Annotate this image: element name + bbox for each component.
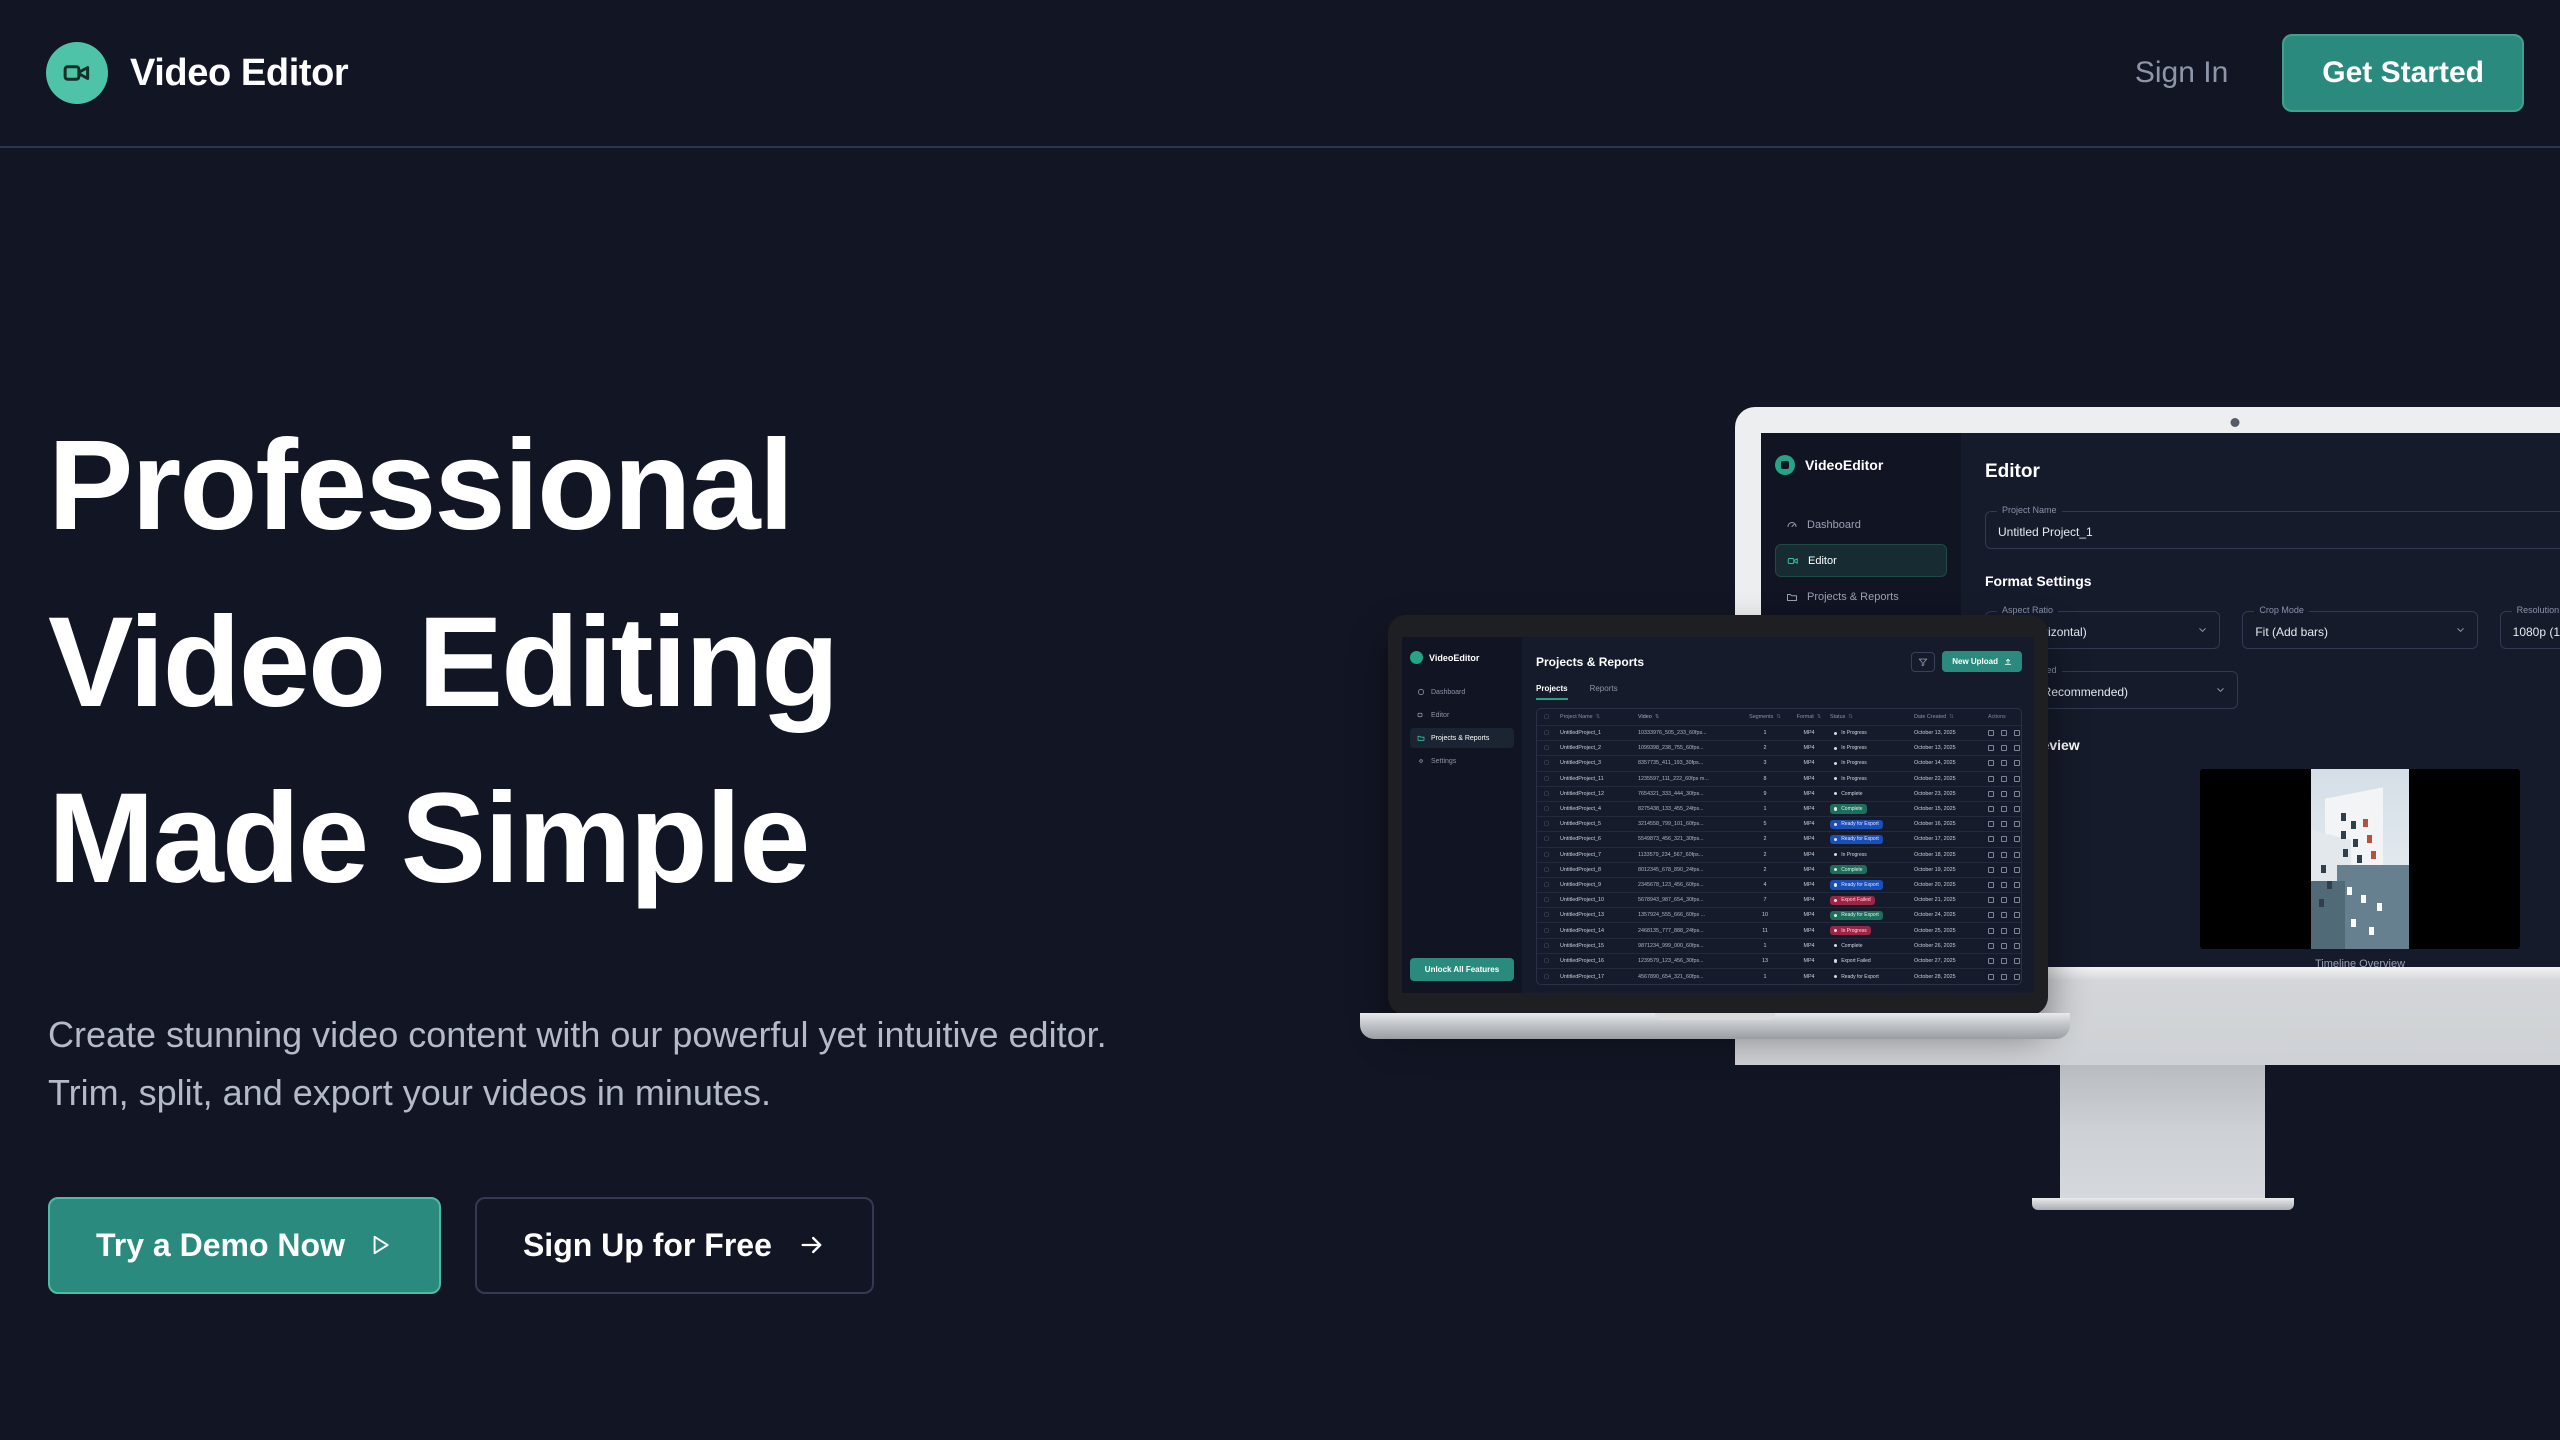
cell-status: In Progress bbox=[1830, 729, 1914, 738]
get-started-button[interactable]: Get Started bbox=[2282, 34, 2524, 112]
download-icon[interactable] bbox=[2001, 928, 2007, 934]
column-status[interactable]: Status⇅ bbox=[1830, 714, 1914, 720]
status-badge: Ready for Export bbox=[1830, 880, 1883, 889]
cell-format: MP4 bbox=[1788, 974, 1830, 980]
folder-icon bbox=[1417, 734, 1425, 742]
edit-icon[interactable] bbox=[1988, 745, 1994, 751]
sidebar-label-projects: Projects & Reports bbox=[1807, 591, 1899, 603]
hero-title-line-3: Made Simple bbox=[48, 751, 1200, 928]
delete-icon[interactable] bbox=[2014, 867, 2020, 873]
row-checkbox[interactable]: ▢ bbox=[1544, 882, 1560, 888]
product-mockups: VideoEditor Dashboard Editor bbox=[1360, 380, 2560, 1240]
cell-segments: 1 bbox=[1742, 806, 1788, 812]
cell-format: MP4 bbox=[1788, 912, 1830, 918]
app-logo: VideoEditor bbox=[1775, 455, 1947, 475]
cell-actions bbox=[1988, 821, 2020, 827]
cell-date-created: October 18, 2025 bbox=[1914, 852, 1988, 858]
table-row[interactable]: ▢UntitledProject_88012345_678_890_24fps.… bbox=[1537, 863, 2021, 878]
cell-status: Export Failed bbox=[1830, 956, 1914, 965]
cell-project-name: UntitledProject_8 bbox=[1560, 867, 1638, 873]
cell-date-created: October 14, 2025 bbox=[1914, 760, 1988, 766]
cell-status: Export Failed bbox=[1830, 896, 1914, 905]
cell-video: 8012345_678_890_24fps... bbox=[1638, 867, 1742, 873]
delete-icon[interactable] bbox=[2014, 882, 2020, 888]
crop-mode-select[interactable]: Crop Mode Fit (Add bars) bbox=[2242, 611, 2477, 649]
table-row[interactable]: ▢UntitledProject_110333976_505_233_60fps… bbox=[1537, 726, 2021, 741]
delete-icon[interactable] bbox=[2014, 836, 2020, 842]
filter-icon[interactable] bbox=[1911, 652, 1935, 672]
laptop-base-notch bbox=[1655, 1013, 1775, 1020]
crop-mode-label: Crop Mode bbox=[2254, 605, 2309, 615]
table-row[interactable]: ▢UntitledProject_131357924_555_666_60fps… bbox=[1537, 908, 2021, 923]
cell-project-name: UntitledProject_2 bbox=[1560, 745, 1638, 751]
hero-cta-group: Try a Demo Now Sign Up for Free bbox=[48, 1197, 1200, 1294]
sidebar-label-projects: Projects & Reports bbox=[1431, 735, 1489, 742]
tab-projects[interactable]: Projects bbox=[1536, 684, 1568, 700]
video-camera-icon bbox=[1786, 554, 1799, 567]
dashboard-icon bbox=[1785, 518, 1798, 531]
app-logo-label: VideoEditor bbox=[1805, 457, 1883, 473]
edit-icon[interactable] bbox=[1988, 897, 1994, 903]
cell-project-name: UntitledProject_16 bbox=[1560, 958, 1638, 964]
video-camera-icon bbox=[1417, 711, 1425, 719]
table-row[interactable]: ▢UntitledProject_111235597_111_222_60fps… bbox=[1537, 772, 2021, 787]
status-badge: In Progress bbox=[1830, 774, 1871, 783]
delete-icon[interactable] bbox=[2014, 852, 2020, 858]
video-frame-image bbox=[2311, 769, 2409, 949]
cell-project-name: UntitledProject_1 bbox=[1560, 730, 1638, 736]
row-checkbox[interactable]: ▢ bbox=[1544, 791, 1560, 797]
row-checkbox[interactable]: ▢ bbox=[1544, 745, 1560, 751]
column-format[interactable]: Format⇅ bbox=[1788, 714, 1830, 720]
edit-icon[interactable] bbox=[1988, 943, 1994, 949]
edit-icon[interactable] bbox=[1988, 867, 1994, 873]
delete-icon[interactable] bbox=[2014, 974, 2020, 980]
status-badge: Export Failed bbox=[1830, 896, 1875, 905]
sign-in-button[interactable]: Sign In bbox=[2135, 56, 2228, 90]
editor-header: Editor Save Exp bbox=[1985, 455, 2560, 489]
cell-video: 1239579_123_456_30fps... bbox=[1638, 958, 1742, 964]
sidebar-label-dashboard: Dashboard bbox=[1807, 519, 1861, 531]
resolution-label: Resolution bbox=[2512, 605, 2560, 615]
sidebar-label-settings: Settings bbox=[1431, 758, 1456, 765]
cell-segments: 4 bbox=[1742, 882, 1788, 888]
download-icon[interactable] bbox=[2001, 958, 2007, 964]
column-actions: Actions bbox=[1988, 714, 2014, 720]
edit-icon[interactable] bbox=[1988, 806, 1994, 812]
download-icon[interactable] bbox=[2001, 943, 2007, 949]
gear-icon bbox=[1417, 757, 1425, 765]
play-icon bbox=[367, 1232, 393, 1258]
arrow-right-icon bbox=[798, 1231, 826, 1259]
cell-video: 2345678_123_456_60fps... bbox=[1638, 882, 1742, 888]
row-checkbox[interactable]: ▢ bbox=[1544, 912, 1560, 918]
cell-format: MP4 bbox=[1788, 745, 1830, 751]
cell-project-name: UntitledProject_17 bbox=[1560, 974, 1638, 980]
cell-video: 3214558_799_101_60fps... bbox=[1638, 821, 1742, 827]
delete-icon[interactable] bbox=[2014, 776, 2020, 782]
cell-actions bbox=[1988, 791, 2020, 797]
cell-actions bbox=[1988, 745, 2020, 751]
column-video[interactable]: Video⇅ bbox=[1638, 714, 1742, 720]
cell-status: Ready for Export bbox=[1830, 820, 1914, 829]
cell-date-created: October 17, 2025 bbox=[1914, 836, 1988, 842]
header-actions: Sign In Get Started bbox=[2135, 34, 2524, 112]
row-checkbox[interactable]: ▢ bbox=[1544, 943, 1560, 949]
download-icon[interactable] bbox=[2001, 776, 2007, 782]
edit-icon[interactable] bbox=[1988, 791, 1994, 797]
app-logo-icon bbox=[1410, 651, 1423, 664]
hero-title-line-2: Video Editing bbox=[48, 575, 1200, 752]
cell-format: MP4 bbox=[1788, 821, 1830, 827]
cell-status: In Progress bbox=[1830, 759, 1914, 768]
download-icon[interactable] bbox=[2001, 974, 2007, 980]
sidebar-item-editor[interactable]: Editor bbox=[1775, 544, 1947, 577]
cell-status: In Progress bbox=[1830, 744, 1914, 753]
cell-format: MP4 bbox=[1788, 943, 1830, 949]
cell-actions bbox=[1988, 943, 2020, 949]
download-icon[interactable] bbox=[2001, 852, 2007, 858]
cell-actions bbox=[1988, 912, 2020, 918]
cell-date-created: October 22, 2025 bbox=[1914, 776, 1988, 782]
hero-section: Professional Video Editing Made Simple C… bbox=[0, 148, 1200, 1294]
download-icon[interactable] bbox=[2001, 821, 2007, 827]
sidebar-label-dashboard: Dashboard bbox=[1431, 689, 1465, 696]
row-checkbox[interactable]: ▢ bbox=[1544, 730, 1560, 736]
editor-page-title: Editor bbox=[1985, 461, 2040, 483]
project-name-label: Project Name bbox=[1997, 505, 2062, 515]
cell-status: Ready for Export bbox=[1830, 972, 1914, 981]
video-camera-icon bbox=[46, 42, 108, 104]
sidebar-label-editor: Editor bbox=[1431, 712, 1449, 719]
projects-tabs: Projects Reports bbox=[1536, 684, 2022, 700]
status-badge: Ready for Export bbox=[1830, 911, 1883, 920]
projects-actions: New Upload bbox=[1911, 651, 2022, 672]
cell-actions bbox=[1988, 730, 2020, 736]
delete-icon[interactable] bbox=[2014, 760, 2020, 766]
download-icon[interactable] bbox=[2001, 867, 2007, 873]
cell-actions bbox=[1988, 760, 2020, 766]
download-icon[interactable] bbox=[2001, 836, 2007, 842]
site-header: Video Editor Sign In Get Started bbox=[0, 0, 2560, 148]
cell-segments: 2 bbox=[1742, 852, 1788, 858]
status-badge: Complete bbox=[1830, 865, 1867, 874]
row-checkbox[interactable]: ▢ bbox=[1544, 928, 1560, 934]
cell-status: Complete bbox=[1830, 865, 1914, 874]
cell-video: 5678943_987_654_30fps... bbox=[1638, 897, 1742, 903]
cell-format: MP4 bbox=[1788, 836, 1830, 842]
app-logo: VideoEditor bbox=[1410, 651, 1514, 664]
sidebar-item-dashboard[interactable]: Dashboard bbox=[1410, 682, 1514, 702]
app-logo-icon bbox=[1775, 455, 1795, 475]
new-upload-label: New Upload bbox=[1952, 657, 1998, 666]
cell-status: Ready for Export bbox=[1830, 911, 1914, 920]
sign-up-label: Sign Up for Free bbox=[523, 1227, 772, 1264]
status-badge: In Progress bbox=[1830, 926, 1871, 935]
download-icon[interactable] bbox=[2001, 806, 2007, 812]
projects-header: Projects & Reports New Upload bbox=[1536, 651, 2022, 672]
table-row[interactable]: ▢UntitledProject_21099398_238_755_60fps.… bbox=[1537, 741, 2021, 756]
cell-video: 9871234_999_000_60fps... bbox=[1638, 943, 1742, 949]
row-checkbox[interactable]: ▢ bbox=[1544, 974, 1560, 980]
cell-project-name: UntitledProject_12 bbox=[1560, 791, 1638, 797]
status-badge: Complete bbox=[1830, 804, 1867, 813]
monitor-foot bbox=[2032, 1198, 2294, 1210]
row-checkbox[interactable]: ▢ bbox=[1544, 867, 1560, 873]
try-demo-button[interactable]: Try a Demo Now bbox=[48, 1197, 441, 1294]
edit-icon[interactable] bbox=[1988, 730, 1994, 736]
status-badge: Complete bbox=[1830, 941, 1867, 950]
monitor-stand bbox=[2060, 1065, 2265, 1205]
projects-main: Projects & Reports New Upload bbox=[1522, 637, 2034, 993]
cell-actions bbox=[1988, 852, 2020, 858]
edit-icon[interactable] bbox=[1988, 821, 1994, 827]
edit-icon[interactable] bbox=[1988, 882, 1994, 888]
delete-icon[interactable] bbox=[2014, 730, 2020, 736]
table-row[interactable]: ▢UntitledProject_65549873_456_321_30fps.… bbox=[1537, 832, 2021, 847]
cell-date-created: October 13, 2025 bbox=[1914, 745, 1988, 751]
chevron-down-icon bbox=[2455, 625, 2466, 636]
status-badge: In Progress bbox=[1830, 744, 1871, 753]
cell-segments: 2 bbox=[1742, 836, 1788, 842]
cell-format: MP4 bbox=[1788, 928, 1830, 934]
chevron-down-icon bbox=[2215, 685, 2226, 696]
project-name-value: Untitled Project_1 bbox=[1998, 525, 2560, 539]
edit-icon[interactable] bbox=[1988, 836, 1994, 842]
delete-icon[interactable] bbox=[2014, 806, 2020, 812]
edit-icon[interactable] bbox=[1988, 912, 1994, 918]
sidebar-item-dashboard[interactable]: Dashboard bbox=[1775, 509, 1947, 540]
cell-format: MP4 bbox=[1788, 867, 1830, 873]
video-preview-header: Video Preview Video player size bbox=[1985, 737, 2560, 753]
cell-video: 10333976_505_233_60fps... bbox=[1638, 730, 1742, 736]
edit-icon[interactable] bbox=[1988, 852, 1994, 858]
table-row[interactable]: ▢UntitledProject_142468135_777_888_24fps… bbox=[1537, 923, 2021, 938]
cell-format: MP4 bbox=[1788, 852, 1830, 858]
table-row[interactable]: ▢UntitledProject_161239579_123_456_30fps… bbox=[1537, 954, 2021, 969]
cell-format: MP4 bbox=[1788, 760, 1830, 766]
cell-actions bbox=[1988, 928, 2020, 934]
row-checkbox[interactable]: ▢ bbox=[1544, 897, 1560, 903]
download-icon[interactable] bbox=[2001, 745, 2007, 751]
cell-segments: 1 bbox=[1742, 974, 1788, 980]
folder-icon bbox=[1785, 590, 1798, 603]
delete-icon[interactable] bbox=[2014, 943, 2020, 949]
edit-icon[interactable] bbox=[1988, 974, 1994, 980]
status-badge: Ready for Export bbox=[1830, 820, 1883, 829]
delete-icon[interactable] bbox=[2014, 897, 2020, 903]
cell-date-created: October 25, 2025 bbox=[1914, 928, 1988, 934]
table-row[interactable]: ▢UntitledProject_53214558_799_101_60fps.… bbox=[1537, 817, 2021, 832]
laptop-sidebar: VideoEditor Dashboard Edit bbox=[1402, 637, 1522, 993]
table-header-row: ▢ Project Name⇅ Video⇅ Segments⇅ Format⇅ bbox=[1537, 709, 2021, 726]
cell-video: 5549873_456_321_30fps... bbox=[1638, 836, 1742, 842]
sidebar-item-projects-reports[interactable]: Projects & Reports bbox=[1410, 728, 1514, 748]
cell-video: 8357735_411_193_30fps... bbox=[1638, 760, 1742, 766]
page-title: Professional Video Editing Made Simple bbox=[48, 398, 1200, 928]
unlock-all-features-button[interactable]: Unlock All Features bbox=[1410, 958, 1514, 981]
cell-actions bbox=[1988, 958, 2020, 964]
row-checkbox[interactable]: ▢ bbox=[1544, 958, 1560, 964]
landing-page: Video Editor Sign In Get Started Profess… bbox=[0, 0, 2560, 1440]
format-field-row-1: Aspect Ratio 16:9 (Horizontal) Crop Mode… bbox=[1985, 589, 2560, 649]
cell-format: MP4 bbox=[1788, 882, 1830, 888]
delete-icon[interactable] bbox=[2014, 912, 2020, 918]
table-row[interactable]: ▢UntitledProject_48275438_133_455_24fps.… bbox=[1537, 802, 2021, 817]
cell-project-name: UntitledProject_7 bbox=[1560, 852, 1638, 858]
row-checkbox[interactable]: ▢ bbox=[1544, 776, 1560, 782]
cell-date-created: October 23, 2025 bbox=[1914, 791, 1988, 797]
download-icon[interactable] bbox=[2001, 760, 2007, 766]
cell-date-created: October 20, 2025 bbox=[1914, 882, 1988, 888]
download-icon[interactable] bbox=[2001, 882, 2007, 888]
cell-date-created: October 19, 2025 bbox=[1914, 867, 1988, 873]
delete-icon[interactable] bbox=[2014, 791, 2020, 797]
column-segments[interactable]: Segments⇅ bbox=[1742, 714, 1788, 720]
cell-status: In Progress bbox=[1830, 926, 1914, 935]
table-row[interactable]: ▢UntitledProject_105678943_987_654_30fps… bbox=[1537, 893, 2021, 908]
cell-actions bbox=[1988, 897, 2020, 903]
resolution-value: 1080p (1920x1080) bbox=[2513, 625, 2560, 639]
cell-segments: 8 bbox=[1742, 776, 1788, 782]
column-project-name[interactable]: Project Name⇅ bbox=[1560, 714, 1638, 720]
row-checkbox[interactable]: ▢ bbox=[1544, 806, 1560, 812]
edit-icon[interactable] bbox=[1988, 958, 1994, 964]
cell-video: 7654321_333_444_30fps... bbox=[1638, 791, 1742, 797]
tab-reports[interactable]: Reports bbox=[1590, 684, 1618, 700]
laptop-lid: VideoEditor Dashboard Edit bbox=[1388, 615, 2048, 1015]
delete-icon[interactable] bbox=[2014, 745, 2020, 751]
sign-up-free-button[interactable]: Sign Up for Free bbox=[475, 1197, 874, 1294]
timeline-overview-caption: Timeline Overview bbox=[1985, 958, 2560, 967]
laptop-mockup: VideoEditor Dashboard Edit bbox=[1360, 615, 2070, 1047]
cell-actions bbox=[1988, 882, 2020, 888]
cell-video: 1357924_555_666_60fps ... bbox=[1638, 912, 1742, 918]
cell-project-name: UntitledProject_13 bbox=[1560, 912, 1638, 918]
cell-status: Complete bbox=[1830, 804, 1914, 813]
table-body: ▢UntitledProject_110333976_505_233_60fps… bbox=[1537, 726, 2021, 984]
cell-format: MP4 bbox=[1788, 806, 1830, 812]
cell-project-name: UntitledProject_5 bbox=[1560, 821, 1638, 827]
project-name-field[interactable]: Project Name Untitled Project_1 bbox=[1985, 511, 2560, 549]
cell-date-created: October 27, 2025 bbox=[1914, 958, 1988, 964]
crop-mode-value: Fit (Add bars) bbox=[2255, 625, 2464, 639]
cell-segments: 9 bbox=[1742, 791, 1788, 797]
delete-icon[interactable] bbox=[2014, 928, 2020, 934]
table-row[interactable]: ▢UntitledProject_92345678_123_456_60fps.… bbox=[1537, 878, 2021, 893]
row-checkbox[interactable]: ▢ bbox=[1544, 836, 1560, 842]
cell-status: Complete bbox=[1830, 789, 1914, 798]
download-icon[interactable] bbox=[2001, 897, 2007, 903]
cell-segments: 2 bbox=[1742, 867, 1788, 873]
table-row[interactable]: ▢UntitledProject_127654321_333_444_30fps… bbox=[1537, 787, 2021, 802]
cell-date-created: October 16, 2025 bbox=[1914, 821, 1988, 827]
edit-icon[interactable] bbox=[1988, 760, 1994, 766]
download-icon[interactable] bbox=[2001, 791, 2007, 797]
cell-status: Ready for Export bbox=[1830, 880, 1914, 889]
row-checkbox[interactable]: ▢ bbox=[1544, 852, 1560, 858]
cell-date-created: October 28, 2025 bbox=[1914, 974, 1988, 980]
table-row[interactable]: ▢UntitledProject_174567890_654_321_60fps… bbox=[1537, 969, 2021, 984]
cell-project-name: UntitledProject_10 bbox=[1560, 897, 1638, 903]
cell-status: Ready for Export bbox=[1830, 835, 1914, 844]
video-preview-player[interactable] bbox=[2200, 769, 2520, 949]
row-checkbox[interactable]: ▢ bbox=[1544, 760, 1560, 766]
delete-icon[interactable] bbox=[2014, 821, 2020, 827]
status-badge: Ready for Export bbox=[1830, 972, 1883, 981]
cell-date-created: October 15, 2025 bbox=[1914, 806, 1988, 812]
sidebar-item-settings[interactable]: Settings bbox=[1410, 751, 1514, 771]
projects-table: ▢ Project Name⇅ Video⇅ Segments⇅ Format⇅ bbox=[1536, 708, 2022, 985]
sidebar-item-editor[interactable]: Editor bbox=[1410, 705, 1514, 725]
row-checkbox[interactable]: ▢ bbox=[1544, 821, 1560, 827]
resolution-select[interactable]: Resolution 1080p (1920x1080) bbox=[2500, 611, 2560, 649]
cell-format: MP4 bbox=[1788, 776, 1830, 782]
cell-format: MP4 bbox=[1788, 791, 1830, 797]
table-row[interactable]: ▢UntitledProject_159871234_999_000_60fps… bbox=[1537, 939, 2021, 954]
download-icon[interactable] bbox=[2001, 912, 2007, 918]
format-settings-title: Format Settings bbox=[1985, 573, 2560, 589]
cell-project-name: UntitledProject_6 bbox=[1560, 836, 1638, 842]
cell-format: MP4 bbox=[1788, 897, 1830, 903]
upload-icon bbox=[2004, 658, 2012, 666]
webcam-icon bbox=[2231, 418, 2240, 427]
status-badge: In Progress bbox=[1830, 850, 1871, 859]
cell-status: In Progress bbox=[1830, 774, 1914, 783]
dashboard-icon bbox=[1417, 688, 1425, 696]
edit-icon[interactable] bbox=[1988, 928, 1994, 934]
cell-actions bbox=[1988, 867, 2020, 873]
cell-segments: 5 bbox=[1742, 821, 1788, 827]
cell-video: 8275438_133_455_24fps... bbox=[1638, 806, 1742, 812]
cell-segments: 3 bbox=[1742, 760, 1788, 766]
cell-format: MP4 bbox=[1788, 730, 1830, 736]
cell-video: 1235597_111_222_60fps m... bbox=[1638, 776, 1742, 782]
cell-date-created: October 24, 2025 bbox=[1914, 912, 1988, 918]
cell-project-name: UntitledProject_3 bbox=[1560, 760, 1638, 766]
cell-project-name: UntitledProject_14 bbox=[1560, 928, 1638, 934]
cell-video: 1099398_238_755_60fps... bbox=[1638, 745, 1742, 751]
try-demo-label: Try a Demo Now bbox=[96, 1227, 345, 1264]
cell-video: 4567890_654_321_60fps... bbox=[1638, 974, 1742, 980]
cell-segments: 2 bbox=[1742, 745, 1788, 751]
table-row[interactable]: ▢UntitledProject_71133579_234_567_60fps.… bbox=[1537, 848, 2021, 863]
projects-page-title: Projects & Reports bbox=[1536, 655, 1644, 669]
hero-subtitle: Create stunning video content with our p… bbox=[48, 1006, 1138, 1123]
cell-actions bbox=[1988, 776, 2020, 782]
download-icon[interactable] bbox=[2001, 730, 2007, 736]
cell-format: MP4 bbox=[1788, 958, 1830, 964]
brand[interactable]: Video Editor bbox=[46, 42, 348, 104]
edit-icon[interactable] bbox=[1988, 776, 1994, 782]
cell-project-name: UntitledProject_11 bbox=[1560, 776, 1638, 782]
cell-video: 2468135_777_888_24fps... bbox=[1638, 928, 1742, 934]
cell-date-created: October 26, 2025 bbox=[1914, 943, 1988, 949]
app-logo-label: VideoEditor bbox=[1429, 653, 1479, 663]
delete-icon[interactable] bbox=[2014, 958, 2020, 964]
hero-title-line-1: Professional bbox=[48, 398, 1200, 575]
cell-project-name: UntitledProject_9 bbox=[1560, 882, 1638, 888]
new-upload-button[interactable]: New Upload bbox=[1942, 651, 2022, 672]
status-badge: In Progress bbox=[1830, 759, 1871, 768]
sidebar-item-projects-reports[interactable]: Projects & Reports bbox=[1775, 581, 1947, 612]
select-all-checkbox[interactable]: ▢ bbox=[1544, 714, 1560, 720]
cell-actions bbox=[1988, 974, 2020, 980]
cell-actions bbox=[1988, 836, 2020, 842]
column-date-created[interactable]: Date Created⇅ bbox=[1914, 714, 1988, 720]
cell-video: 1133579_234_567_60fps... bbox=[1638, 852, 1742, 858]
table-row[interactable]: ▢UntitledProject_38357735_411_193_30fps.… bbox=[1537, 756, 2021, 771]
